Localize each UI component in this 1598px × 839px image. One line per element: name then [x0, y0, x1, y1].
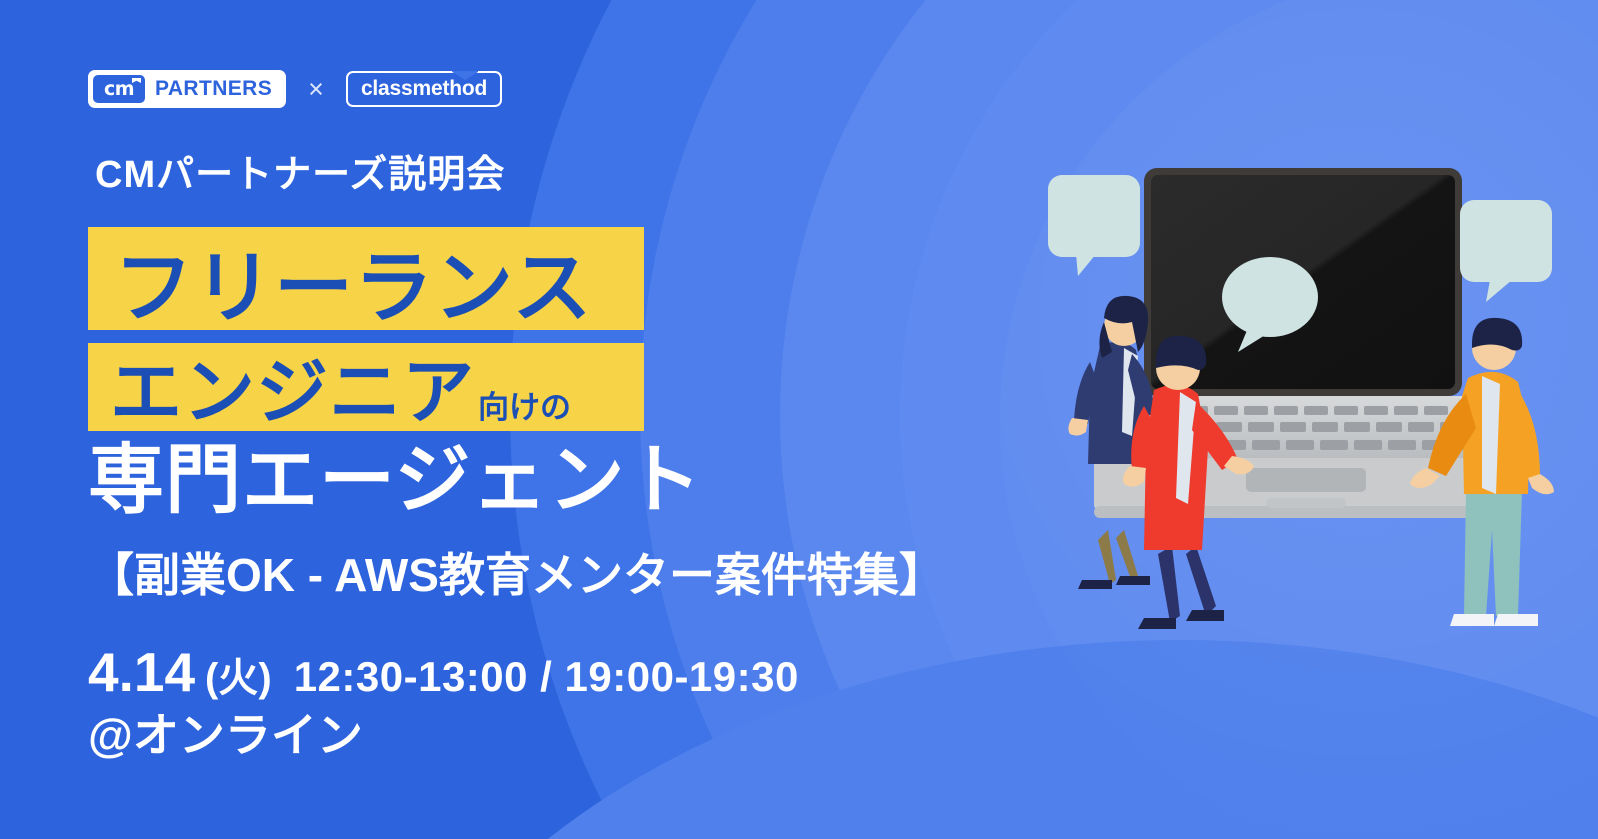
schedule-line: 4.14 (火) 12:30-13:00 / 19:00-19:30: [88, 645, 799, 700]
schedule-day-of-week: (火): [205, 658, 272, 698]
logo-row: cm PARTNERS × classmethod: [88, 70, 502, 108]
headline-band-2-suffix: 向けの: [478, 392, 571, 429]
headline-band-2-text: エンジニア: [110, 358, 475, 429]
cm-partners-wordmark: PARTNERS: [155, 77, 272, 101]
headline-band-freelance: フリーランス: [88, 227, 644, 330]
event-kicker: CMパートナーズ説明会: [95, 156, 505, 194]
cross-icon: ×: [308, 76, 324, 103]
headline-specialist-agent: 専門エージェント: [88, 443, 702, 519]
cm-badge-icon: cm: [93, 75, 145, 103]
online-meeting-illustration: [1020, 150, 1580, 690]
headline-subtitle: 【副業OK - AWS教育メンター案件特集】: [88, 550, 945, 601]
classmethod-logo: classmethod: [346, 71, 502, 107]
schedule-date: 4.14: [88, 645, 195, 700]
classmethod-wordmark: classmethod: [361, 77, 487, 101]
event-banner: cm PARTNERS × classmethod CMパートナーズ説明会 フリ…: [0, 0, 1598, 839]
schedule-times: 12:30-13:00 / 19:00-19:30: [294, 656, 799, 698]
speech-bubble-right: [1460, 200, 1552, 302]
banner-content: cm PARTNERS × classmethod CMパートナーズ説明会 フリ…: [0, 0, 1000, 839]
cm-partners-logo: cm PARTNERS: [88, 70, 286, 108]
speech-bubble-left: [1048, 175, 1140, 276]
headline-band-engineer: エンジニア 向けの: [88, 343, 644, 431]
headline-band-1-text: フリーランス: [114, 249, 592, 326]
schedule-venue: @オンライン: [88, 712, 363, 758]
